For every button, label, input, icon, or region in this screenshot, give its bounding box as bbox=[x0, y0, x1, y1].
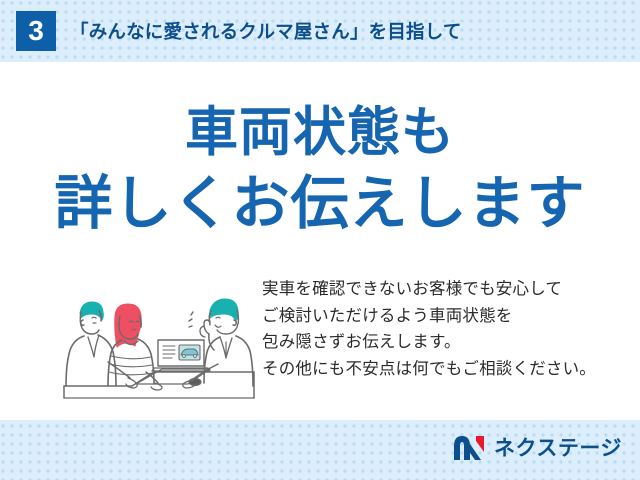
body-line-2: ご検討いただけるよう車両状態を bbox=[262, 303, 640, 330]
brand-logo: ネクステージ bbox=[453, 435, 622, 461]
nextage-n-logo-icon bbox=[453, 435, 487, 461]
body-line-3: 包み隠さずお伝えします。 bbox=[262, 329, 640, 356]
header-title: 「みんなに愛されるクルマ屋さん」を目指して bbox=[70, 18, 462, 44]
step-number-badge: 3 bbox=[16, 11, 56, 51]
consultation-illustration bbox=[58, 280, 258, 400]
headline-line-2: 詳しくお伝えします bbox=[0, 167, 640, 240]
brand-name: ネクステージ bbox=[494, 438, 622, 459]
body-line-4: その他にも不安点は何でもご相談ください。 bbox=[262, 356, 640, 383]
headline-line-1: 車両状態も bbox=[0, 100, 640, 167]
body-text-block: 実車を確認できないお客様でも安心して ご検討いただけるよう車両状態を 包み隠さず… bbox=[262, 276, 640, 383]
footer-band: ネクステージ bbox=[0, 420, 640, 480]
header-band: 3 「みんなに愛されるクルマ屋さん」を目指して bbox=[0, 0, 640, 62]
body-line-1: 実車を確認できないお客様でも安心して bbox=[262, 276, 640, 303]
content-panel: 車両状態も 詳しくお伝えします bbox=[0, 62, 640, 420]
headline: 車両状態も 詳しくお伝えします bbox=[0, 100, 640, 240]
lower-content-row: 実車を確認できないお客様でも安心して ご検討いただけるよう車両状態を 包み隠さず… bbox=[0, 274, 640, 404]
promo-poster: 3 「みんなに愛されるクルマ屋さん」を目指して 車両状態も 詳しくお伝えします bbox=[0, 0, 640, 480]
